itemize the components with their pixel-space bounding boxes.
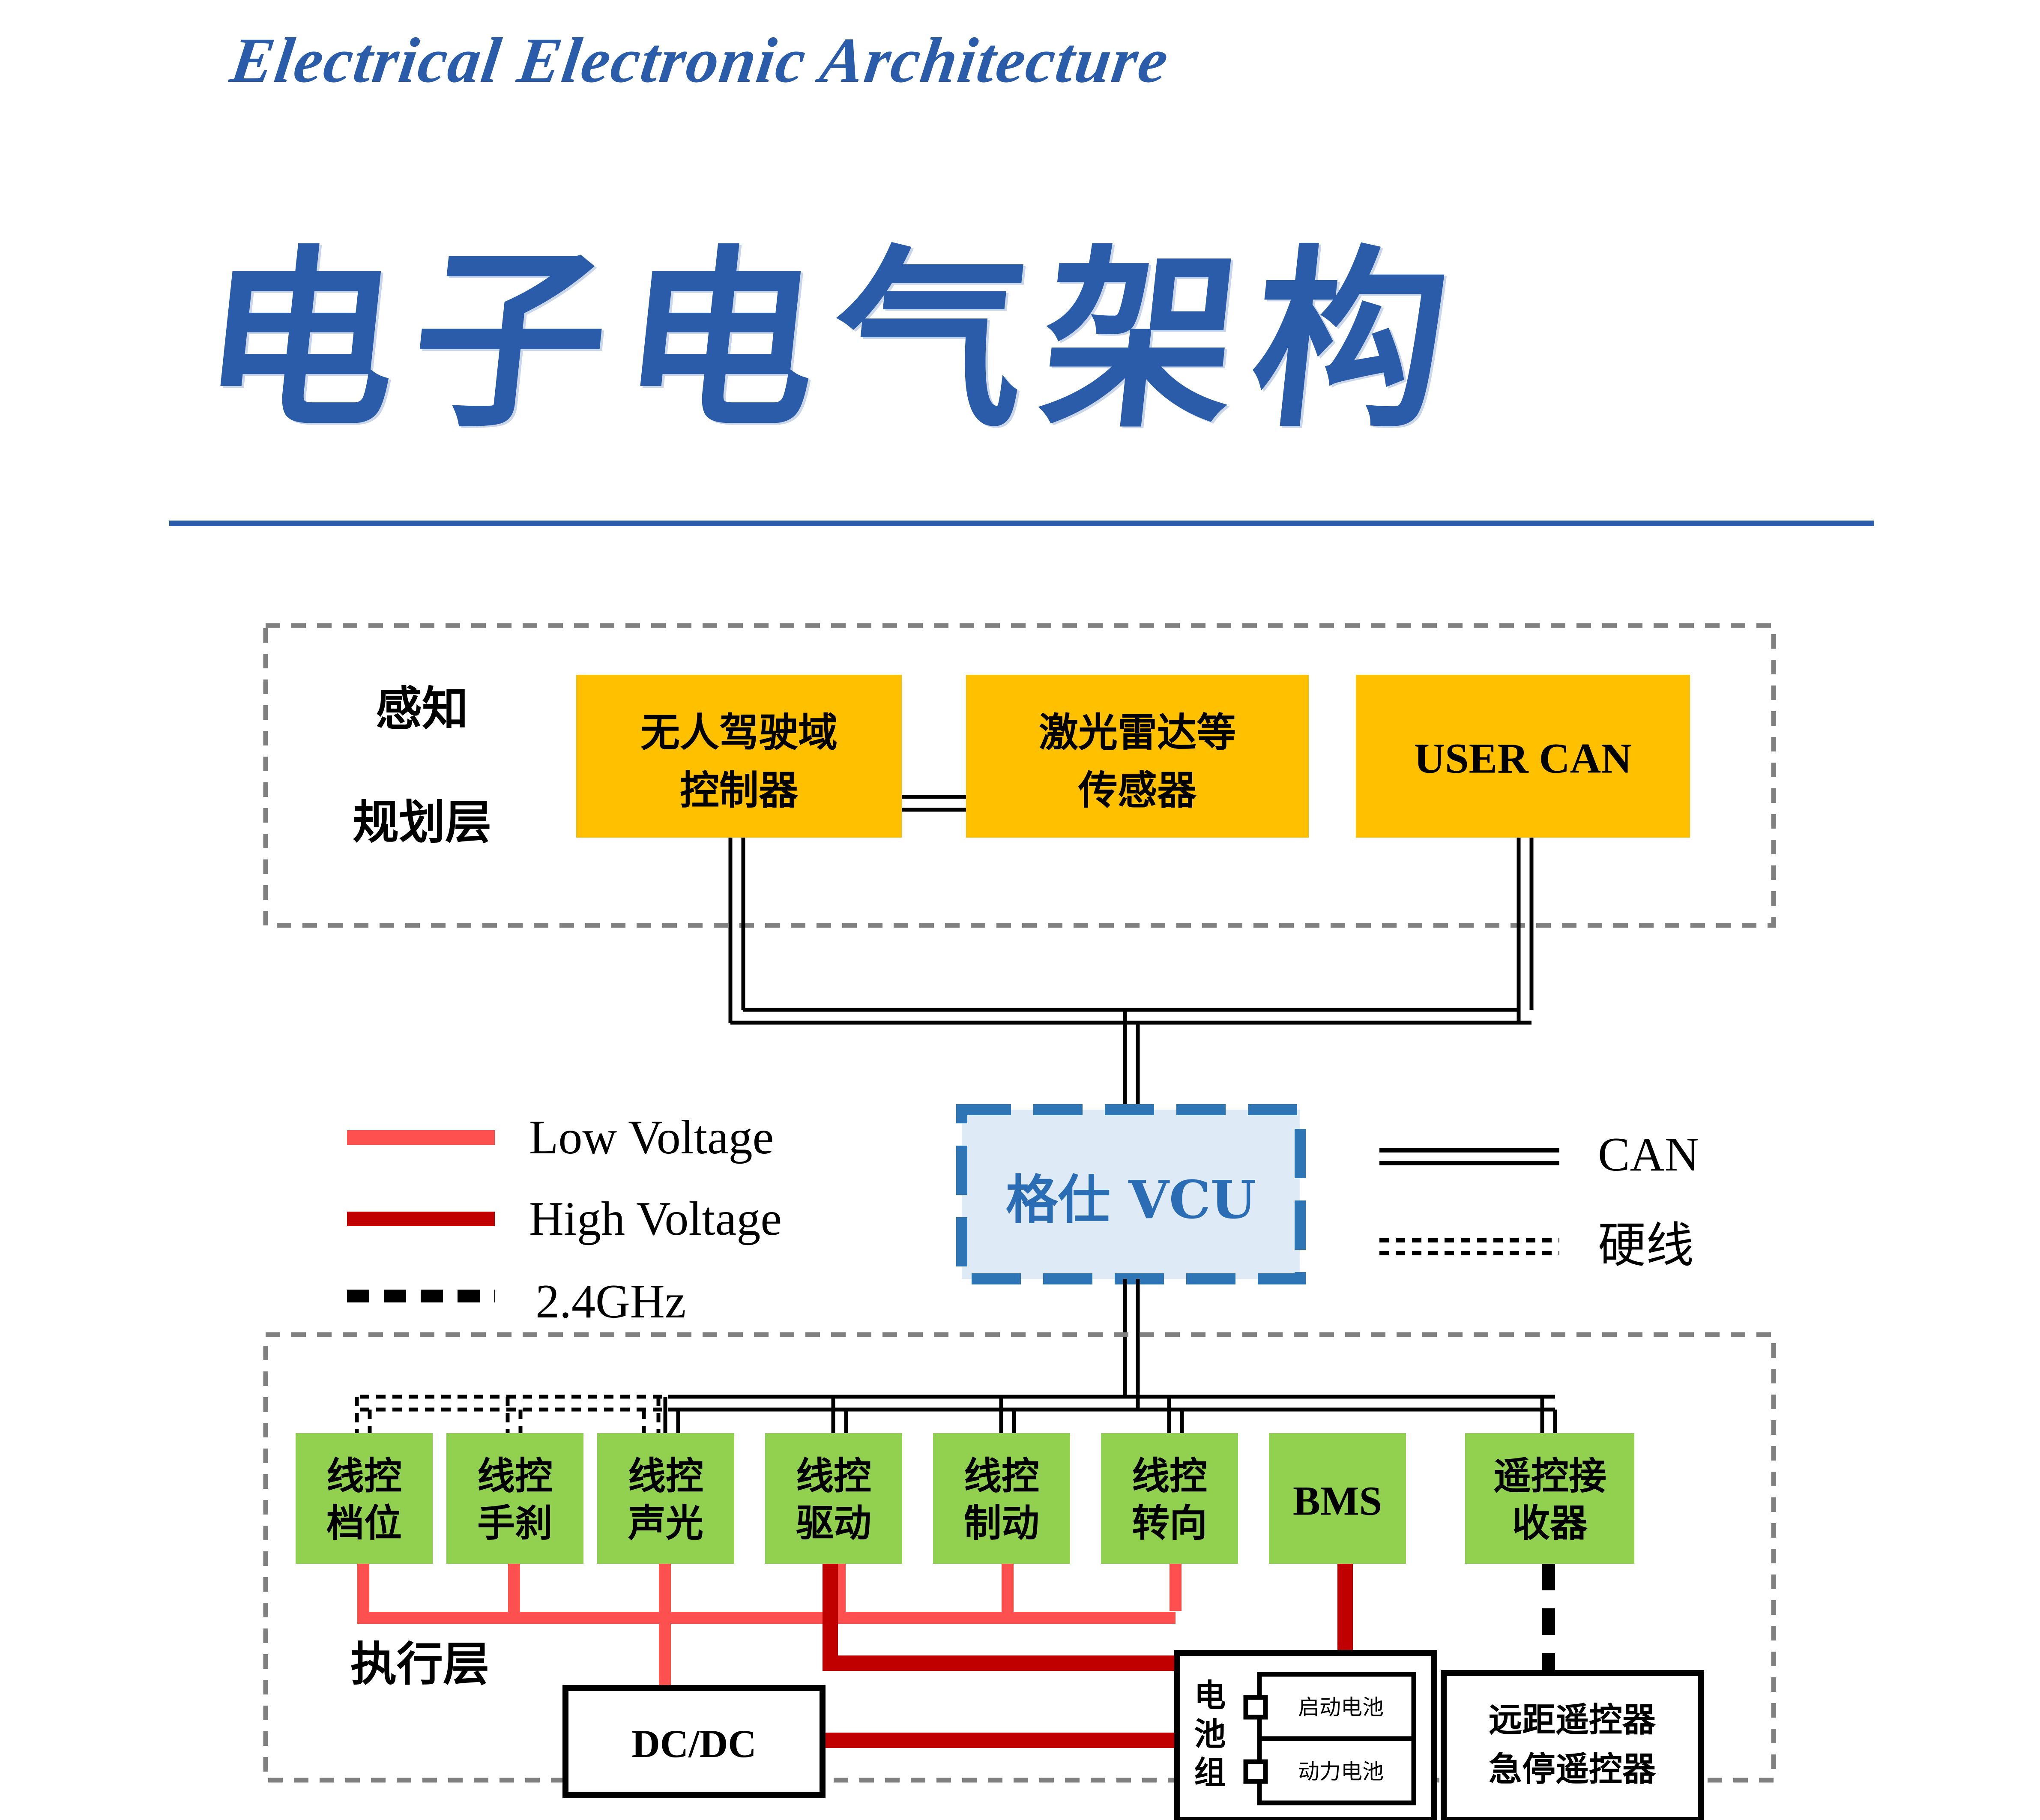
legend-24ghz-label: 2.4GHz (535, 1275, 686, 1328)
battery-cell-power-label: 动力电池 (1298, 1759, 1384, 1784)
execution-box-brake-line1: 线控 (964, 1454, 1039, 1498)
execution-box-rcrx-line1: 遥控接 (1493, 1454, 1606, 1498)
perception-box-adc-line1: 无人驾驶域 (640, 710, 838, 756)
battery-cell-power-terminal (1246, 1762, 1265, 1781)
page-header: Electrical Electronic Architecture 电子电气架… (0, 0, 2040, 557)
execution-box-bms-label: BMS (1293, 1478, 1382, 1524)
perception-box-lidar-line2: 传感器 (1078, 768, 1197, 814)
legend-high-voltage-label: High Voltage (529, 1192, 782, 1245)
execution-box-brake-line2: 制动 (964, 1501, 1039, 1545)
battery-cell-starter-terminal (1246, 1697, 1265, 1717)
perception-box-usercan-label: USER CAN (1414, 735, 1632, 782)
legend-hardwire-label: 硬线 (1598, 1219, 1694, 1272)
architecture-diagram: 感知 规划层 无人驾驶域 控制器 激光雷达等 传感器 USER CAN Low … (0, 557, 2040, 1820)
legend-can-label: CAN (1598, 1128, 1699, 1181)
execution-box-steering-line1: 线控 (1132, 1454, 1207, 1498)
legend-right: CAN 硬线 (1379, 1128, 1699, 1272)
execution-box-soundlight-line1: 线控 (628, 1454, 703, 1498)
perception-layer-label-line1: 感知 (376, 682, 468, 736)
perception-layer-label-line2: 规划层 (353, 796, 491, 850)
can-bus-vcu-to-execution (1125, 1279, 1138, 1410)
header-divider-rule (169, 521, 1874, 526)
remote-controllers-line1: 远距遥控器 (1489, 1701, 1656, 1739)
execution-box-handbrake-line2: 手刹 (477, 1501, 553, 1545)
perception-box-lidar-line1: 激光雷达等 (1039, 710, 1236, 756)
remote-controllers-box[interactable] (1444, 1673, 1701, 1820)
execution-box-gear-line1: 线控 (326, 1454, 402, 1498)
can-bus-perception-to-vcu (730, 838, 1531, 1110)
execution-box-drive-line1: 线控 (796, 1454, 871, 1498)
vcu-label: 格仕 VCU (1006, 1169, 1256, 1230)
execution-hardwire-bus (357, 1397, 675, 1433)
execution-layer-label: 执行层 (350, 1638, 489, 1691)
dcdc-label: DC/DC (631, 1722, 756, 1766)
execution-box-drive-line2: 驱动 (796, 1501, 871, 1545)
battery-pack-label-char1: 电池组 (1189, 1679, 1226, 1794)
execution-box-steering-line2: 转向 (1132, 1501, 1207, 1545)
execution-box-gear-line2: 档位 (326, 1501, 402, 1545)
english-title: Electrical Electronic Architecture (226, 24, 1174, 97)
execution-can-bus (665, 1397, 1555, 1433)
perception-box-adc-line2: 控制器 (680, 768, 799, 814)
chinese-title: 电子电气架构 (191, 184, 1480, 464)
execution-box-rcrx-line2: 收器 (1512, 1501, 1588, 1545)
legend-low-voltage-label: Low Voltage (529, 1111, 774, 1164)
execution-box-handbrake-line1: 线控 (477, 1454, 553, 1498)
execution-box-soundlight-line2: 声光 (628, 1501, 703, 1545)
battery-cell-starter-label: 启动电池 (1298, 1695, 1384, 1720)
remote-controllers-line2: 急停遥控器 (1489, 1750, 1656, 1789)
legend-left: Low Voltage High Voltage 2.4GHz (347, 1111, 782, 1328)
